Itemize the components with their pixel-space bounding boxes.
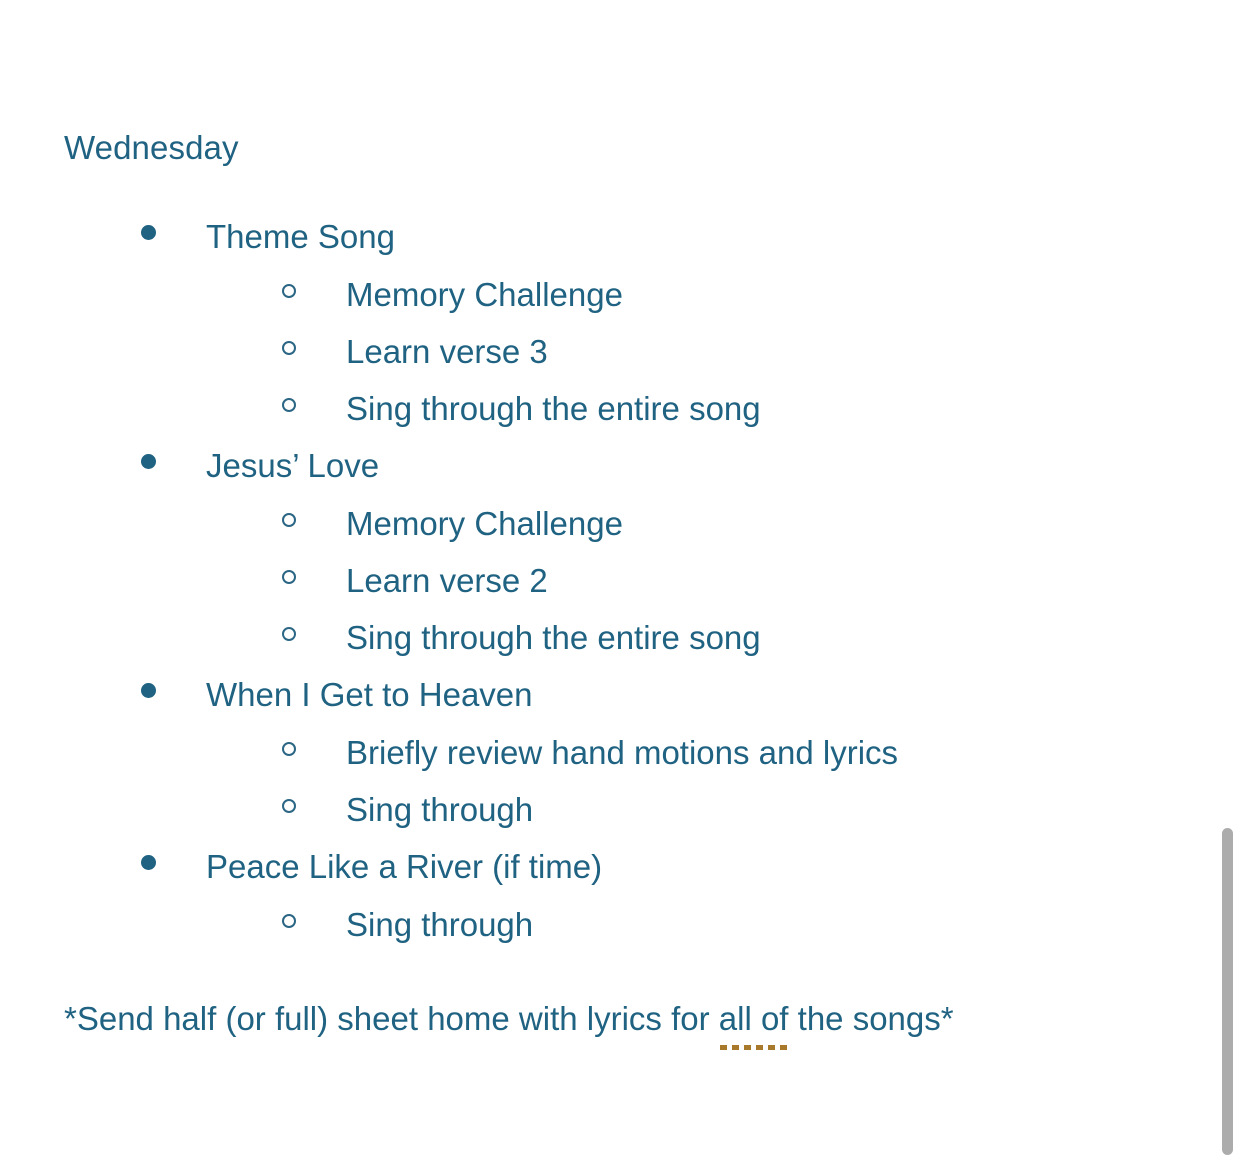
outline-subitem-label: Sing through — [346, 903, 533, 947]
outline-subitem-label: Sing through — [346, 788, 533, 832]
hollow-bullet-icon — [282, 914, 296, 928]
outline-item-level2: Learn verse 2 — [0, 559, 1242, 616]
document-page: Wednesday Theme SongMemory ChallengeLear… — [0, 0, 1242, 1155]
closing-note: *Send half (or full) sheet home with lyr… — [64, 997, 954, 1041]
outline-item-label: When I Get to Heaven — [206, 673, 533, 717]
filled-bullet-icon — [141, 454, 156, 469]
outline-item-label: Jesus’ Love — [206, 444, 379, 488]
outline-item-level2: Memory Challenge — [0, 502, 1242, 559]
hollow-bullet-icon — [282, 627, 296, 641]
outline-item-level1: Jesus’ Love — [0, 444, 1242, 502]
outline-item-level2: Sing through the entire song — [0, 387, 1242, 444]
outline-item-label: Theme Song — [206, 215, 395, 259]
hollow-bullet-icon — [282, 570, 296, 584]
spelling-flagged-text[interactable]: all of — [719, 997, 789, 1041]
filled-bullet-icon — [141, 225, 156, 240]
hollow-bullet-icon — [282, 799, 296, 813]
outline-subitem-label: Memory Challenge — [346, 273, 623, 317]
outline-item-level1: Theme Song — [0, 215, 1242, 273]
hollow-bullet-icon — [282, 742, 296, 756]
filled-bullet-icon — [141, 683, 156, 698]
outline-item-level2: Briefly review hand motions and lyrics — [0, 731, 1242, 788]
hollow-bullet-icon — [282, 341, 296, 355]
outline-item-level2: Sing through — [0, 903, 1242, 960]
outline-item-level2: Sing through the entire song — [0, 616, 1242, 673]
outline-subitem-label: Sing through the entire song — [346, 387, 761, 431]
outline-subitem-label: Memory Challenge — [346, 502, 623, 546]
outline-subitem-label: Learn verse 3 — [346, 330, 548, 374]
outline-item-level1: When I Get to Heaven — [0, 673, 1242, 731]
hollow-bullet-icon — [282, 398, 296, 412]
outline-subitem-label: Briefly review hand motions and lyrics — [346, 731, 898, 775]
vertical-scrollbar-track[interactable] — [1218, 0, 1242, 1155]
outline-subitem-label: Sing through the entire song — [346, 616, 761, 660]
vertical-scrollbar-thumb[interactable] — [1222, 828, 1233, 1155]
outline-item-level1: Peace Like a River (if time) — [0, 845, 1242, 903]
hollow-bullet-icon — [282, 284, 296, 298]
outline-item-level2: Memory Challenge — [0, 273, 1242, 330]
outline-item-label: Peace Like a River (if time) — [206, 845, 602, 889]
outline-item-level2: Learn verse 3 — [0, 330, 1242, 387]
closing-note-after: the songs* — [788, 1000, 953, 1037]
outline-list: Theme SongMemory ChallengeLearn verse 3S… — [0, 215, 1242, 960]
filled-bullet-icon — [141, 855, 156, 870]
outline-item-level2: Sing through — [0, 788, 1242, 845]
page-title: Wednesday — [64, 126, 239, 170]
hollow-bullet-icon — [282, 513, 296, 527]
outline-subitem-label: Learn verse 2 — [346, 559, 548, 603]
closing-note-before: *Send half (or full) sheet home with lyr… — [64, 1000, 719, 1037]
